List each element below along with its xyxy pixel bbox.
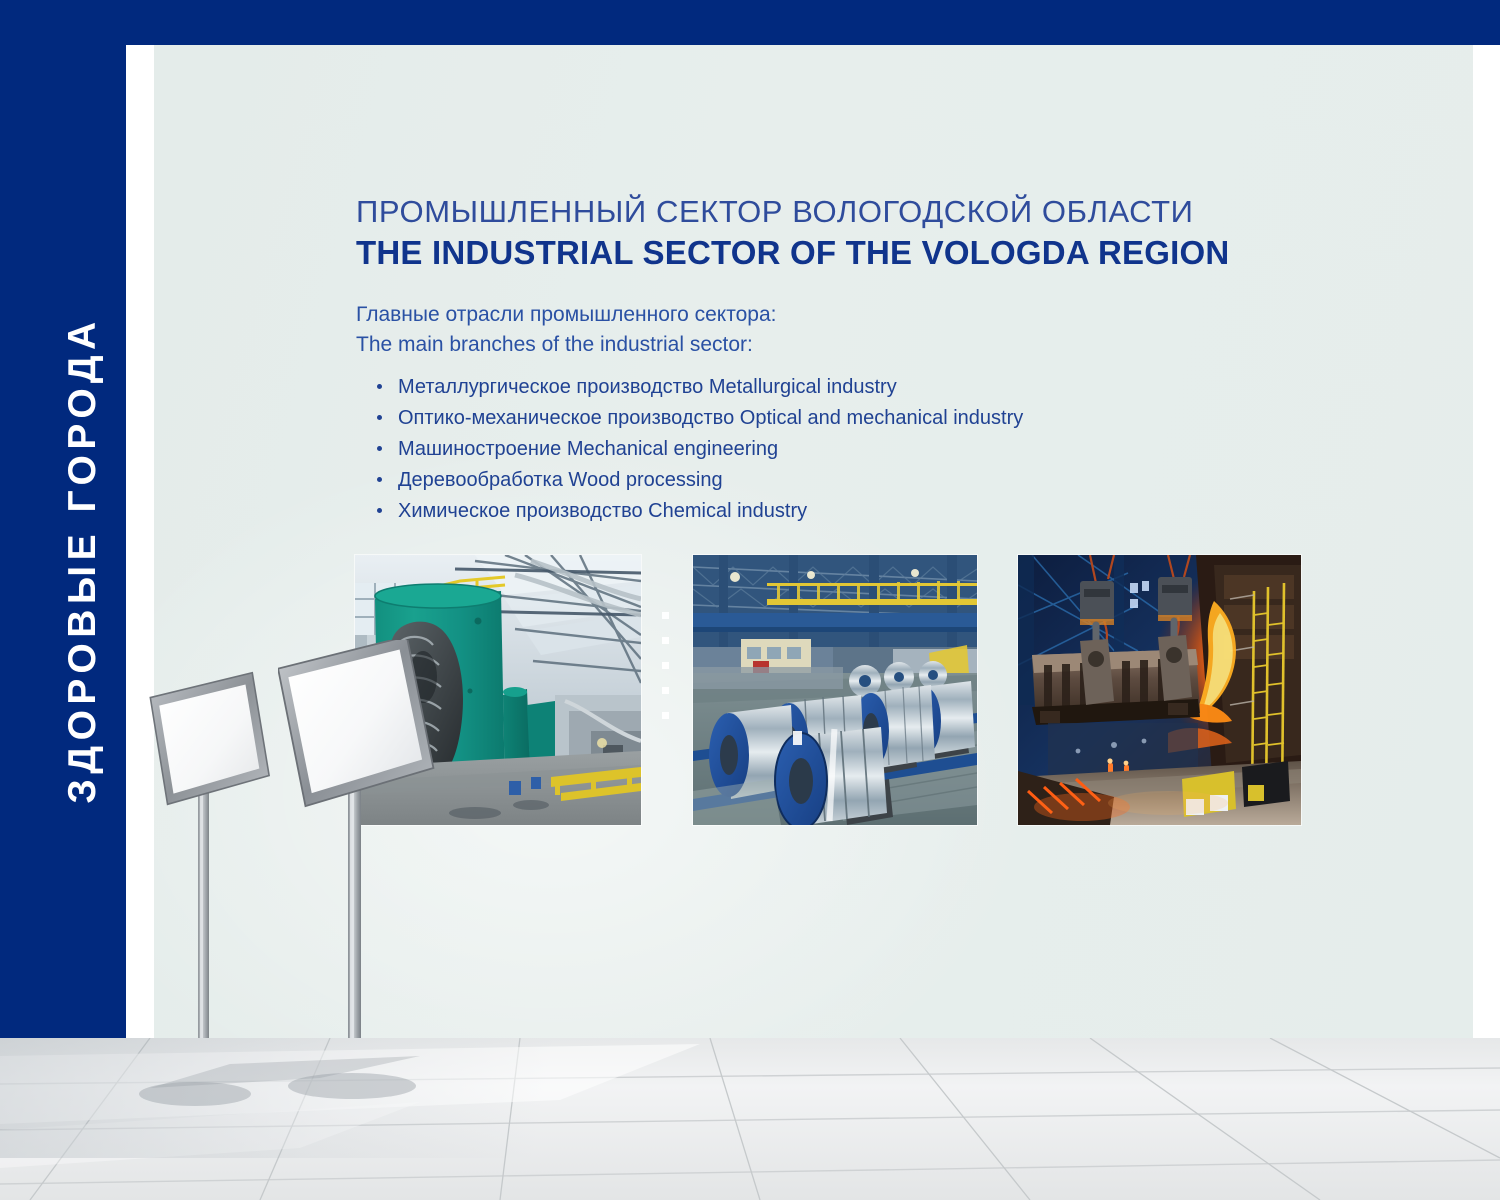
bullet-icon [377, 446, 382, 451]
page-title-en: THE INDUSTRIAL SECTOR OF THE VOLOGDA REG… [356, 234, 1256, 273]
decorative-dot-column [662, 612, 669, 737]
list-item: Деревообработка Wood processing [372, 467, 1212, 493]
section-subtitle-ru: Главные отрасли промышленного сектора: [356, 300, 1156, 330]
photo-steel-mill-crane-ladle [1018, 555, 1301, 825]
bullet-icon [377, 477, 382, 482]
bullet-icon [377, 508, 382, 513]
list-item-label: Химическое производство Chemical industr… [398, 500, 807, 522]
list-item-label: Оптико-механическое производство Optical… [398, 407, 1023, 429]
list-item-label: Металлургическое производство Metallurgi… [398, 376, 897, 398]
decor-dot [662, 612, 669, 619]
bullet-icon [377, 384, 382, 389]
decor-dot [662, 637, 669, 644]
list-item: Машиностроение Mechanical engineering [372, 436, 1212, 462]
bullet-icon [377, 415, 382, 420]
left-brand-band: ЗДОРОВЫЕ ГОРОДА [0, 0, 126, 1038]
decor-dot [662, 662, 669, 669]
branches-list: Металлургическое производство Metallurgi… [372, 374, 1212, 529]
photo-steel-coils-warehouse [693, 555, 977, 825]
list-item: Оптико-механическое производство Optical… [372, 405, 1212, 431]
page-title: ПРОМЫШЛЕННЫЙ СЕКТОР ВОЛОГОДСКОЙ ОБЛАСТИ … [356, 194, 1256, 273]
section-subtitle: Главные отрасли промышленного сектора: T… [356, 300, 1156, 360]
list-item-label: Машиностроение Mechanical engineering [398, 438, 778, 460]
decor-dot [662, 712, 669, 719]
floor-tiles [0, 1038, 1500, 1200]
list-item: Химическое производство Chemical industr… [372, 498, 1212, 524]
slide-canvas: ЗДОРОВЫЕ ГОРОДА ПРОМЫШЛЕННЫЙ СЕКТОР ВОЛО… [0, 0, 1500, 1200]
page-title-ru: ПРОМЫШЛЕННЫЙ СЕКТОР ВОЛОГОДСКОЙ ОБЛАСТИ [356, 194, 1256, 231]
decor-dot [662, 687, 669, 694]
list-item: Металлургическое производство Metallurgi… [372, 374, 1212, 400]
top-brand-band [0, 0, 1500, 45]
list-item-label: Деревообработка Wood processing [398, 469, 723, 491]
section-subtitle-en: The main branches of the industrial sect… [356, 330, 1156, 360]
